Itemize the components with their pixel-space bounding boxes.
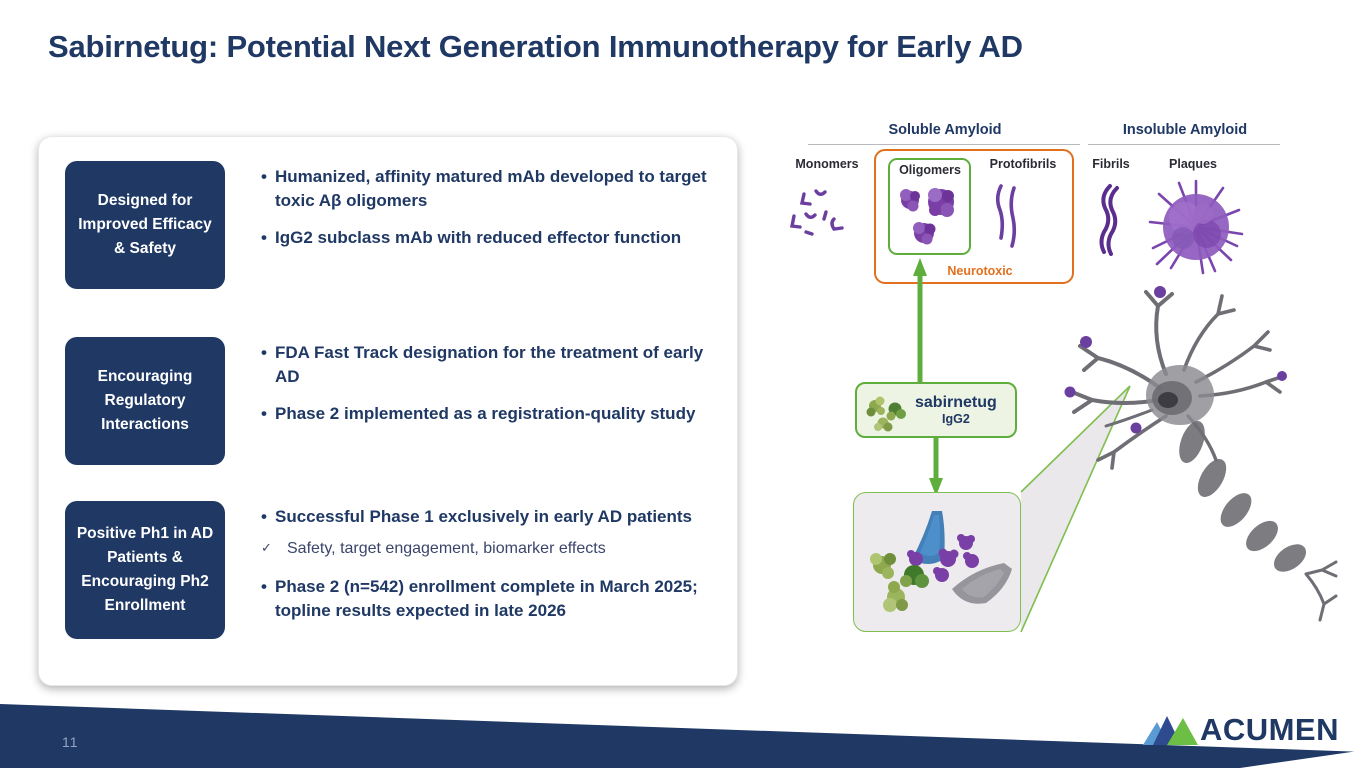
bullet-text: Successful Phase 1 exclusively in early … <box>275 505 721 529</box>
protofibrils-illustration <box>992 182 1026 254</box>
bullet-text: Phase 2 implemented as a registration-qu… <box>275 402 721 426</box>
left-content-card: Designed for Improved Efficacy & Safety … <box>38 136 738 686</box>
sabirnetug-name: sabirnetug <box>915 393 997 412</box>
bullet-text: IgG2 subclass mAb with reduced effector … <box>275 226 721 250</box>
species-label-oligomers: Oligomers <box>890 163 970 177</box>
bullet-marker-icon: • <box>261 341 275 365</box>
amyloid-pathway-diagram: Soluble Amyloid Insoluble Amyloid Neurot… <box>760 110 1360 670</box>
bullet-item: • Phase 2 implemented as a registration-… <box>261 402 721 426</box>
content-row-2: Encouraging Regulatory Interactions • FD… <box>65 337 721 465</box>
antibody-molecule-icon <box>865 394 917 432</box>
section-heading-soluble-amyloid: Soluble Amyloid <box>830 122 1060 138</box>
content-row-3: Positive Ph1 in AD Patients & Encouragin… <box>65 501 721 639</box>
sabirnetug-drug-box: sabirnetug IgG2 <box>855 382 1017 438</box>
sabirnetug-labels: sabirnetug IgG2 <box>915 393 997 427</box>
bullet-text: FDA Fast Track designation for the treat… <box>275 341 721 389</box>
neurotoxic-label: Neurotoxic <box>920 264 1040 278</box>
sub-bullet-item: ✓ Safety, target engagement, biomarker e… <box>261 538 721 561</box>
bullet-item: • Phase 2 (n=542) enrollment complete in… <box>261 575 721 623</box>
bullet-marker-icon: • <box>261 165 275 189</box>
bullet-list-2: • FDA Fast Track designation for the tre… <box>261 337 721 439</box>
species-label-monomers: Monomers <box>772 157 882 171</box>
neuron-illustration <box>1040 270 1360 630</box>
bullet-marker-icon: • <box>261 575 275 599</box>
bullet-text: Phase 2 (n=542) enrollment complete in M… <box>275 575 721 623</box>
page-title: Sabirnetug: Potential Next Generation Im… <box>48 28 1298 65</box>
page-number: 11 <box>62 734 79 750</box>
bullet-list-1: • Humanized, affinity matured mAb develo… <box>261 161 721 263</box>
sabirnetug-subtitle: IgG2 <box>915 412 997 427</box>
synapse-callout-box <box>853 492 1021 632</box>
section-pill-3: Positive Ph1 in AD Patients & Encouragin… <box>65 501 225 639</box>
section-pill-1: Designed for Improved Efficacy & Safety <box>65 161 225 289</box>
sub-bullet-text: Safety, target engagement, biomarker eff… <box>287 538 606 561</box>
green-arrow-up-icon <box>912 256 928 391</box>
species-label-plaques: Plaques <box>1148 157 1238 171</box>
slide-root: Sabirnetug: Potential Next Generation Im… <box>0 0 1365 768</box>
acumen-logo: ACUMEN <box>1141 712 1339 746</box>
section-heading-insoluble-amyloid: Insoluble Amyloid <box>1080 122 1290 138</box>
monomers-illustration <box>790 188 868 244</box>
section-pill-2: Encouraging Regulatory Interactions <box>65 337 225 465</box>
plaques-illustration <box>1145 176 1247 278</box>
acumen-mountain-icon <box>1141 712 1199 746</box>
bullet-list-3: • Successful Phase 1 exclusively in earl… <box>261 501 721 636</box>
soluble-amyloid-rule <box>808 144 1080 145</box>
bullet-text: Humanized, affinity matured mAb develope… <box>275 165 721 213</box>
synapse-illustration <box>854 493 1021 632</box>
bullet-item: • IgG2 subclass mAb with reduced effecto… <box>261 226 721 250</box>
bullet-item: • Successful Phase 1 exclusively in earl… <box>261 505 721 529</box>
bullet-marker-icon: • <box>261 402 275 426</box>
checkmark-icon: ✓ <box>261 538 287 558</box>
bullet-item: • FDA Fast Track designation for the tre… <box>261 341 721 389</box>
bullet-marker-icon: • <box>261 226 275 250</box>
fibrils-illustration <box>1092 182 1132 256</box>
species-label-fibrils: Fibrils <box>1078 157 1144 171</box>
green-arrow-down-icon <box>928 438 944 498</box>
bullet-marker-icon: • <box>261 505 275 529</box>
oligomers-illustration <box>893 180 967 252</box>
bullet-item: • Humanized, affinity matured mAb develo… <box>261 165 721 213</box>
species-label-protofibrils: Protofibrils <box>975 157 1071 171</box>
insoluble-amyloid-rule <box>1088 144 1280 145</box>
acumen-wordmark: ACUMEN <box>1200 714 1339 745</box>
content-row-1: Designed for Improved Efficacy & Safety … <box>65 161 721 289</box>
